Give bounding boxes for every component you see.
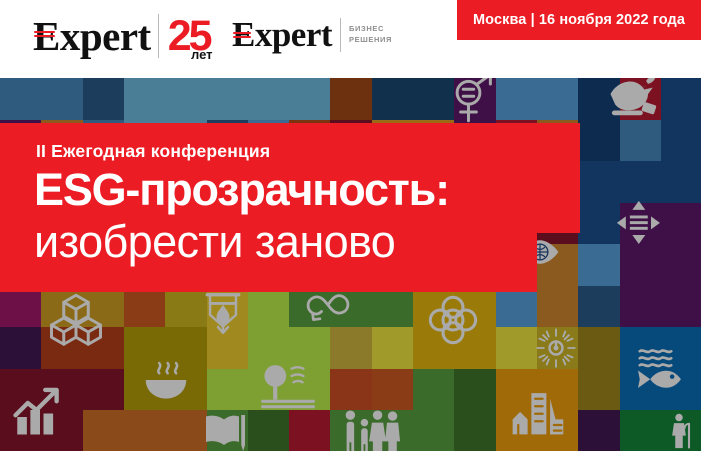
mosaic-tile xyxy=(0,78,83,120)
sustainable-cities-icon xyxy=(507,380,567,440)
logo-divider-secondary xyxy=(340,18,341,52)
mosaic-tile xyxy=(124,78,331,120)
business-solutions-tagline: БИЗНЕС РЕШЕНИЯ xyxy=(349,24,392,46)
mosaic-tile xyxy=(496,78,579,120)
partnership-flower-icon xyxy=(424,291,482,349)
mosaic-tile xyxy=(330,78,372,120)
mosaic-tile xyxy=(83,410,166,451)
mosaic-tile xyxy=(372,327,414,369)
good-health-person-icon xyxy=(659,410,699,450)
logo-divider xyxy=(158,14,159,58)
mosaic-tile xyxy=(578,286,620,328)
mosaic-tile xyxy=(578,410,620,451)
mosaic-tile xyxy=(83,369,125,411)
industry-cubes-icon xyxy=(48,290,104,346)
banner-header: Expert 25 лет Expert БИЗНЕС РЕШЕНИЯ Моск… xyxy=(0,0,701,78)
mosaic-tile xyxy=(372,78,455,120)
gender-family-icon xyxy=(341,402,401,451)
expert-wordmark-secondary: Expert xyxy=(232,17,332,52)
mosaic-tile xyxy=(0,327,42,369)
mosaic-tile xyxy=(289,410,331,451)
event-date-badge: Москва | 16 ноября 2022 года xyxy=(457,0,701,40)
anniversary-mark: 25 лет xyxy=(168,15,210,58)
economic-growth-chart-icon xyxy=(12,382,68,438)
quality-education-book-icon xyxy=(200,406,248,451)
mosaic-tile xyxy=(413,410,455,451)
mosaic-tile xyxy=(83,78,125,120)
title-block: II Ежегодная конференция ESG-прозрачност… xyxy=(0,123,580,292)
mosaic-tile xyxy=(454,410,496,451)
mosaic-tile xyxy=(661,78,701,120)
mosaic-tile xyxy=(330,327,372,369)
mosaic-tile xyxy=(248,410,290,451)
mosaic-tile xyxy=(578,369,620,411)
conference-title-sub: изобрести заново xyxy=(34,219,395,264)
reduced-inequalities-icon xyxy=(612,196,664,248)
tagline-line-1: БИЗНЕС xyxy=(349,24,392,35)
expert-wordmark: Expert xyxy=(33,16,151,57)
tagline-line-2: РЕШЕНИЯ xyxy=(349,35,392,46)
mosaic-tile xyxy=(661,120,701,162)
gender-equality-icon xyxy=(444,70,500,126)
expert-anniversary-logo[interactable]: Expert 25 лет xyxy=(33,14,210,58)
conference-banner: II Ежегодная конференция ESG-прозрачност… xyxy=(0,0,701,451)
life-below-water-fish-icon xyxy=(631,339,687,395)
clean-water-icon xyxy=(200,289,246,335)
affordable-energy-sun-icon xyxy=(533,325,579,371)
mosaic-tile xyxy=(620,286,701,328)
mosaic-tile xyxy=(413,369,455,411)
mosaic-tile xyxy=(454,369,496,411)
mosaic-tile xyxy=(578,327,620,369)
zero-hunger-bowl-icon xyxy=(139,353,193,407)
mosaic-tile xyxy=(207,369,249,411)
climate-action-tree-icon xyxy=(259,356,317,414)
mosaic-tile xyxy=(620,244,701,286)
mosaic-tile xyxy=(496,327,538,369)
conference-kicker: II Ежегодная конференция xyxy=(36,141,270,162)
anniversary-unit: лет xyxy=(191,48,213,61)
conference-title-main: ESG-прозрачность: xyxy=(34,167,449,212)
expert-business-solutions-logo[interactable]: Expert БИЗНЕС РЕШЕНИЯ xyxy=(232,17,392,52)
mosaic-tile xyxy=(578,244,620,286)
